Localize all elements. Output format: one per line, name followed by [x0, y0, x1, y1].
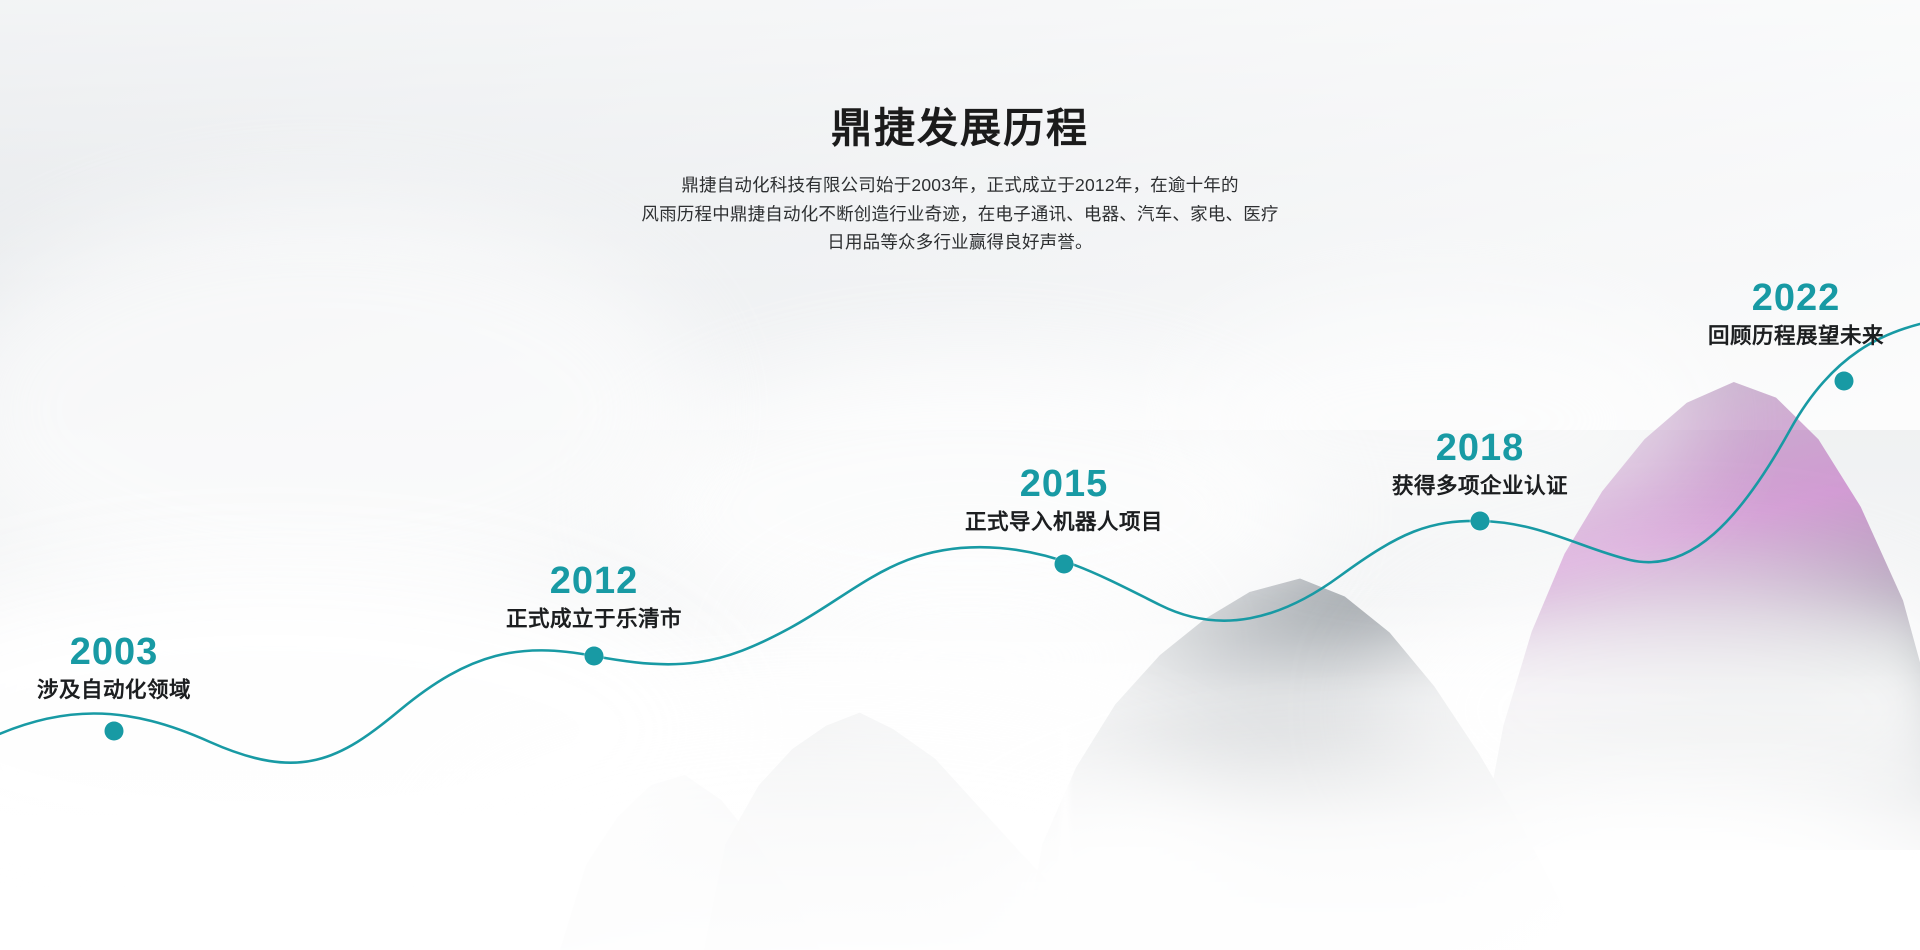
- page-title: 鼎捷发展历程: [0, 104, 1920, 153]
- header-block: 鼎捷发展历程 鼎捷自动化科技有限公司始于2003年，正式成立于2012年，在逾十…: [0, 104, 1920, 256]
- milestone-year: 2012: [506, 561, 682, 602]
- timeline-node-2003[interactable]: [105, 722, 124, 741]
- milestone-year: 2018: [1392, 428, 1568, 469]
- milestone-2022[interactable]: 2022回顾历程展望未来: [1708, 278, 1884, 351]
- fog-layer: [1180, 300, 1700, 540]
- timeline-node-2018[interactable]: [1471, 512, 1490, 531]
- poster-stage: 鼎捷发展历程 鼎捷自动化科技有限公司始于2003年，正式成立于2012年，在逾十…: [0, 0, 1920, 950]
- milestone-year: 2015: [965, 464, 1163, 505]
- milestone-2012[interactable]: 2012正式成立于乐清市: [506, 561, 682, 634]
- milestone-label: 正式导入机器人项目: [965, 508, 1163, 537]
- milestone-2018[interactable]: 2018获得多项企业认证: [1392, 428, 1568, 501]
- milestone-2003[interactable]: 2003涉及自动化领域: [37, 632, 191, 705]
- milestone-2015[interactable]: 2015正式导入机器人项目: [965, 464, 1163, 537]
- description-line-1: 鼎捷自动化科技有限公司始于2003年，正式成立于2012年，在逾十年的: [0, 171, 1920, 199]
- milestone-label: 涉及自动化领域: [37, 676, 191, 705]
- milestone-label: 正式成立于乐清市: [506, 605, 682, 634]
- description-line-3: 日用品等众多行业赢得良好声誉。: [0, 228, 1920, 256]
- description-line-2: 风雨历程中鼎捷自动化不断创造行业奇迹，在电子通讯、电器、汽车、家电、医疗: [0, 200, 1920, 228]
- bottom-haze: [0, 670, 1920, 950]
- milestone-year: 2022: [1708, 278, 1884, 319]
- timeline-node-2015[interactable]: [1055, 555, 1074, 574]
- timeline-node-2022[interactable]: [1835, 372, 1854, 391]
- page-description: 鼎捷自动化科技有限公司始于2003年，正式成立于2012年，在逾十年的 风雨历程…: [0, 171, 1920, 256]
- timeline-node-2012[interactable]: [585, 647, 604, 666]
- milestone-year: 2003: [37, 632, 191, 673]
- milestone-label: 获得多项企业认证: [1392, 472, 1568, 501]
- milestone-label: 回顾历程展望未来: [1708, 322, 1884, 351]
